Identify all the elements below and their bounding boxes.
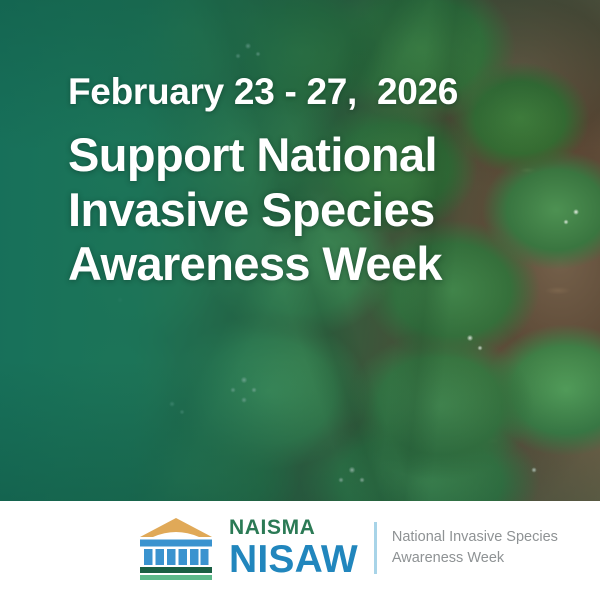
nisaw-wordmark: NISAW xyxy=(229,540,358,580)
logo-tagline: National Invasive Species Awareness Week xyxy=(392,527,558,568)
headline-block: February 23 - 27, 2026 Support National … xyxy=(68,72,588,292)
poster-canvas: February 23 - 27, 2026 Support National … xyxy=(0,0,600,600)
capitol-building-icon xyxy=(137,516,215,580)
logo-divider xyxy=(374,522,377,574)
hero-photo-section: February 23 - 27, 2026 Support National … xyxy=(0,0,600,501)
headline-line-2: Invasive Species xyxy=(68,183,588,238)
logo-wordmark: NAISMA NISAW xyxy=(229,517,358,580)
headline-line-3: Awareness Week xyxy=(68,237,588,292)
tagline-line-2: Awareness Week xyxy=(392,548,558,569)
event-headline: Support National Invasive Species Awaren… xyxy=(68,128,588,292)
naisma-wordmark: NAISMA xyxy=(229,517,358,538)
headline-line-1: Support National xyxy=(68,128,588,183)
naisma-nisaw-logo-lockup[interactable]: NAISMA NISAW National Invasive Species A… xyxy=(137,516,558,580)
tagline-line-1: National Invasive Species xyxy=(392,527,558,548)
footer-band: NAISMA NISAW National Invasive Species A… xyxy=(0,501,600,600)
event-dateline: February 23 - 27, 2026 xyxy=(68,72,588,111)
